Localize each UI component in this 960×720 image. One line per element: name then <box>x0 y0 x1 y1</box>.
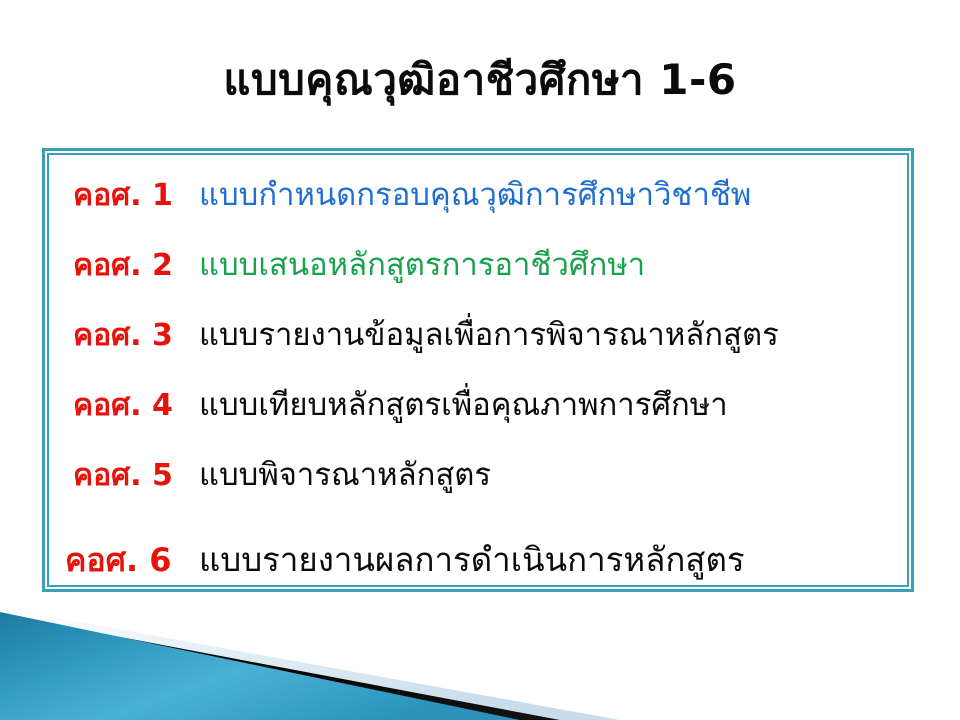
list-item: คอศ. 1 แบบกำหนดกรอบคุณวุฒิการศึกษาวิชาชี… <box>49 169 907 239</box>
form-code-label: คอศ. 4 <box>73 382 199 429</box>
deco-black-band <box>14 620 560 720</box>
form-code-label: คอศ. 1 <box>73 172 199 219</box>
form-list: คอศ. 1 แบบกำหนดกรอบคุณวุฒิการศึกษาวิชาชี… <box>49 155 907 585</box>
list-item: คอศ. 4 แบบเทียบหลักสูตรเพื่อคุณภาพการศึก… <box>49 379 907 449</box>
content-frame-inner-border: คอศ. 1 แบบกำหนดกรอบคุณวุฒิการศึกษาวิชาชี… <box>47 153 909 587</box>
list-item: คอศ. 3 แบบรายงานข้อมูลเพื่อการพิจารณาหลั… <box>49 309 907 379</box>
list-item: คอศ. 2 แบบเสนอหลักสูตรการอาชีวศึกษา <box>49 239 907 309</box>
page-title: แบบคุณวุฒิอาชีวศึกษา 1-6 <box>0 56 960 104</box>
form-code-label: คอศ. 6 <box>65 535 199 586</box>
list-item: คอศ. 5 แบบพิจารณาหลักสูตร <box>49 449 907 519</box>
form-code-label: คอศ. 5 <box>73 452 199 499</box>
form-code-label: คอศ. 2 <box>73 242 199 289</box>
form-description: แบบกำหนดกรอบคุณวุฒิการศึกษาวิชาชีพ <box>199 169 751 219</box>
form-description: แบบเทียบหลักสูตรเพื่อคุณภาพการศึกษา <box>199 379 728 429</box>
slide-canvas: แบบคุณวุฒิอาชีวศึกษา 1-6 คอศ. 1 แบบกำหนด… <box>0 0 960 720</box>
corner-decoration-graphic <box>0 602 620 720</box>
deco-blue-wedge <box>0 612 520 720</box>
form-description: แบบรายงานข้อมูลเพื่อการพิจารณาหลักสูตร <box>199 309 779 359</box>
form-code-label: คอศ. 3 <box>73 312 199 359</box>
deco-pale-band <box>8 612 620 720</box>
list-item: คอศ. 6 แบบรายงานผลการดำเนินการหลักสูตร <box>49 519 907 603</box>
form-description: แบบพิจารณาหลักสูตร <box>199 449 491 499</box>
form-description: แบบรายงานผลการดำเนินการหลักสูตร <box>199 533 745 586</box>
content-frame: คอศ. 1 แบบกำหนดกรอบคุณวุฒิการศึกษาวิชาชี… <box>42 148 914 592</box>
form-description: แบบเสนอหลักสูตรการอาชีวศึกษา <box>199 239 645 289</box>
